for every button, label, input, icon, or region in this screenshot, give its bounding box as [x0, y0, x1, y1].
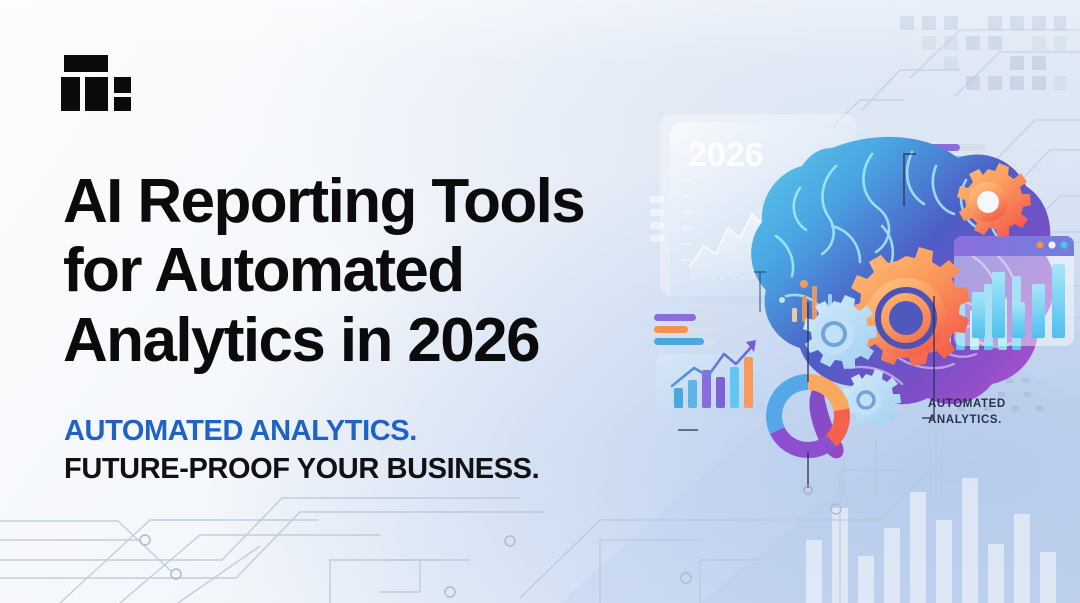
- brand-logo[interactable]: [61, 55, 131, 111]
- window-dot-green: [1060, 241, 1067, 248]
- ai-brain-analytics-illustration: 2026: [636, 96, 1080, 496]
- illustration-caption: AUTOMATED ANALYTICS.: [928, 396, 1006, 429]
- logo-block-middle: [85, 77, 108, 111]
- logo-block-right-upper: [114, 77, 131, 93]
- circuit-nodes-left: [140, 504, 841, 597]
- window-dot-yellow: [1048, 241, 1055, 248]
- progress-bar-list-left: [654, 314, 716, 345]
- browser-window-bar-chart: [954, 236, 1074, 346]
- headline-line-1: AI Reporting Tools: [63, 167, 663, 236]
- donut-chart: [774, 382, 842, 450]
- connector-lines-bottom: [844, 428, 936, 496]
- subtitle-accent-line: AUTOMATED ANALYTICS.: [64, 413, 539, 451]
- panel-year-label: 2026: [688, 136, 764, 174]
- bar-chart-card: [656, 340, 764, 414]
- subtitle-dark-line: FUTURE-PROOF YOUR BUSINESS.: [64, 451, 539, 489]
- headline-line-3: Analytics in 2026: [63, 306, 663, 375]
- logo-block-left: [61, 77, 80, 111]
- headline-line-2: for Automated: [63, 236, 663, 305]
- illustration-caption-line-2: ANALYTICS.: [928, 412, 1006, 428]
- logo-block-right-lower: [114, 97, 131, 111]
- background-silhouette-bars: [806, 478, 1056, 603]
- page-title: AI Reporting Tools for Automated Analyti…: [63, 167, 663, 375]
- marketing-banner: AI Reporting Tools for Automated Analyti…: [0, 0, 1080, 603]
- circuit-traces-left: [0, 498, 545, 603]
- window-dot-red: [1036, 241, 1043, 248]
- logo-block-top: [64, 55, 108, 72]
- subtitle: AUTOMATED ANALYTICS. FUTURE-PROOF YOUR B…: [64, 413, 539, 488]
- illustration-caption-line-1: AUTOMATED: [928, 396, 1006, 412]
- pixel-grid-pattern: [900, 16, 1066, 90]
